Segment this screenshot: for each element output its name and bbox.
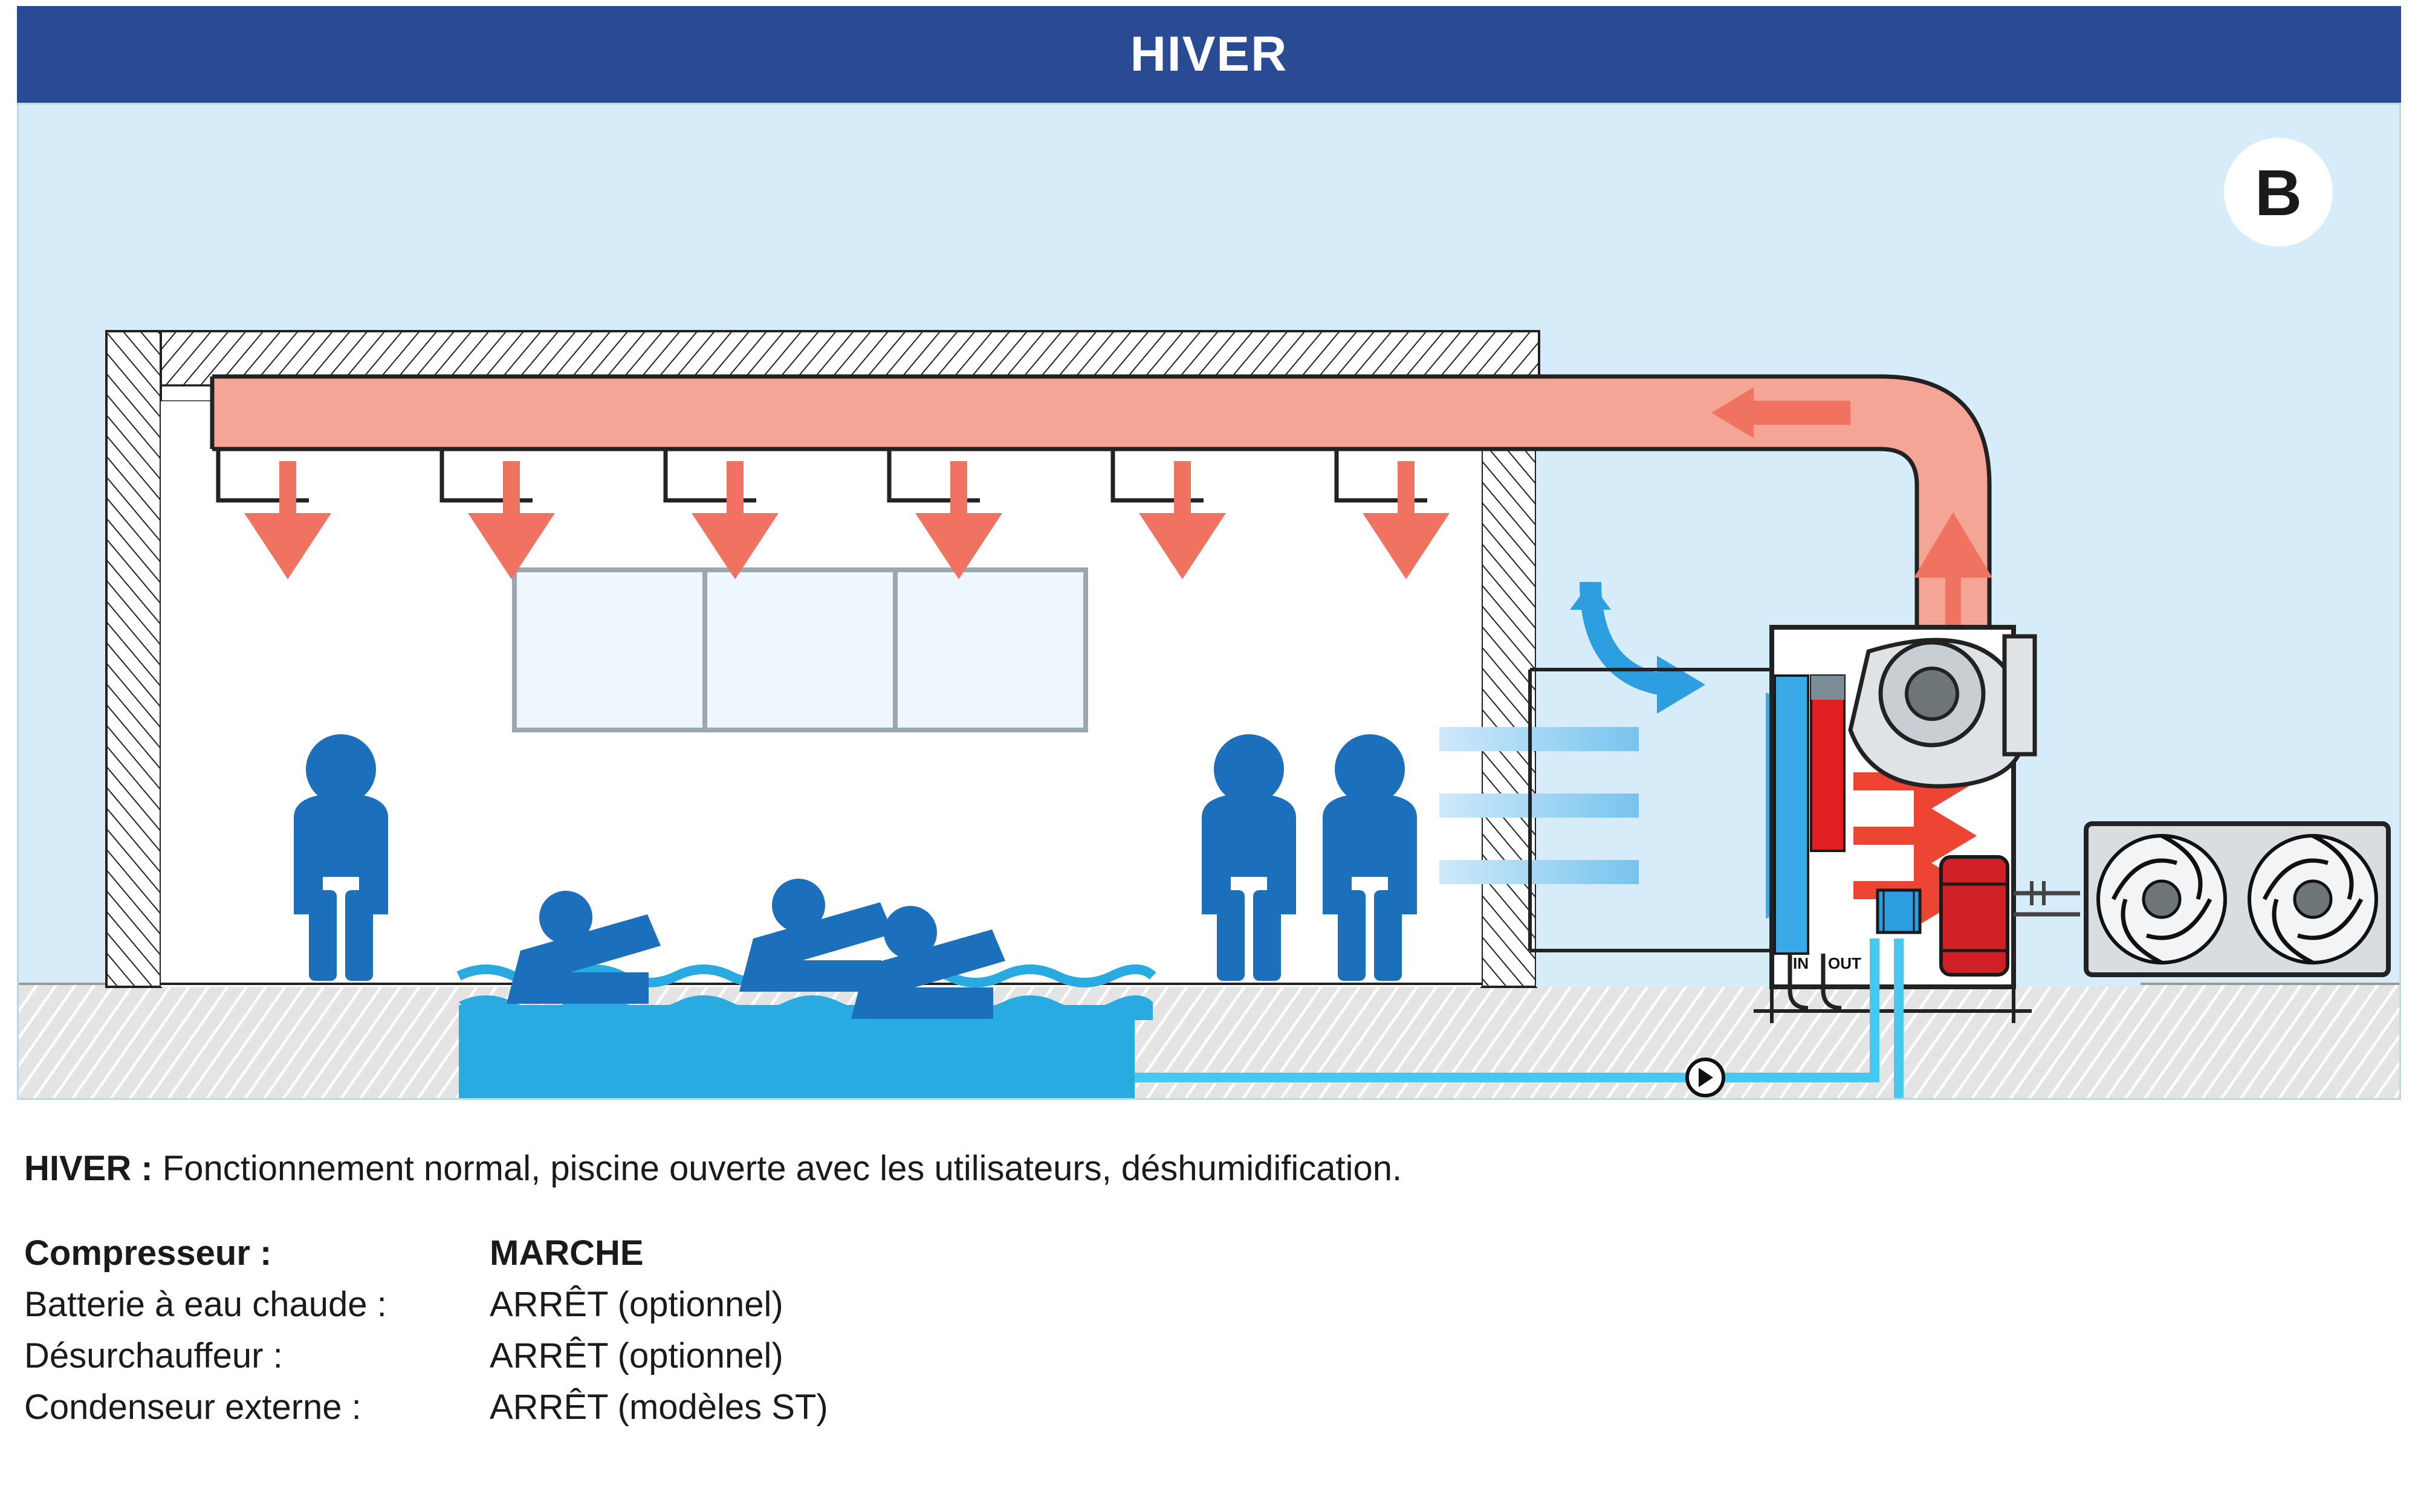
unit-label-out: OUT (1828, 954, 1861, 972)
state-label: Condenseur externe : (24, 1387, 490, 1427)
state-label: Désurchauffeur : (24, 1336, 490, 1376)
compressor (1941, 857, 2008, 975)
caption: HIVER : Fonctionnement normal, piscine o… (24, 1148, 2382, 1189)
state-row: Désurchauffeur : ARRÊT (optionnel) (24, 1336, 2382, 1376)
step-badge: B (2224, 138, 2333, 247)
state-value: ARRÊT (optionnel) (490, 1336, 2382, 1376)
state-value: ARRÊT (optionnel) (490, 1284, 2382, 1325)
water-heat-exchanger (1878, 890, 1920, 932)
window (514, 570, 1086, 730)
state-label: Compresseur : (24, 1233, 490, 1273)
states-list: Compresseur : MARCHE Batterie à eau chau… (24, 1233, 2382, 1438)
caption-text: Fonctionnement normal, piscine ouverte a… (153, 1149, 1402, 1188)
blower-fan (1850, 636, 2035, 786)
header-bar: HIVER (17, 6, 2401, 103)
state-value: MARCHE (490, 1233, 2382, 1273)
scene-illustration: IN OUT (17, 103, 2401, 1100)
diagram-page: HIVER (0, 0, 2418, 1512)
unit-label-in: IN (1793, 954, 1809, 972)
remote-condenser (2086, 824, 2388, 975)
state-label: Batterie à eau chaude : (24, 1284, 490, 1325)
state-value: ARRÊT (modèles ST) (490, 1387, 2382, 1427)
step-badge-letter: B (2255, 155, 2302, 230)
caption-lead: HIVER : (24, 1149, 153, 1188)
page-title: HIVER (1130, 26, 1288, 83)
state-row: Condenseur externe : ARRÊT (modèles ST) (24, 1387, 2382, 1427)
state-row: Batterie à eau chaude : ARRÊT (optionnel… (24, 1284, 2382, 1325)
state-row: Compresseur : MARCHE (24, 1233, 2382, 1273)
